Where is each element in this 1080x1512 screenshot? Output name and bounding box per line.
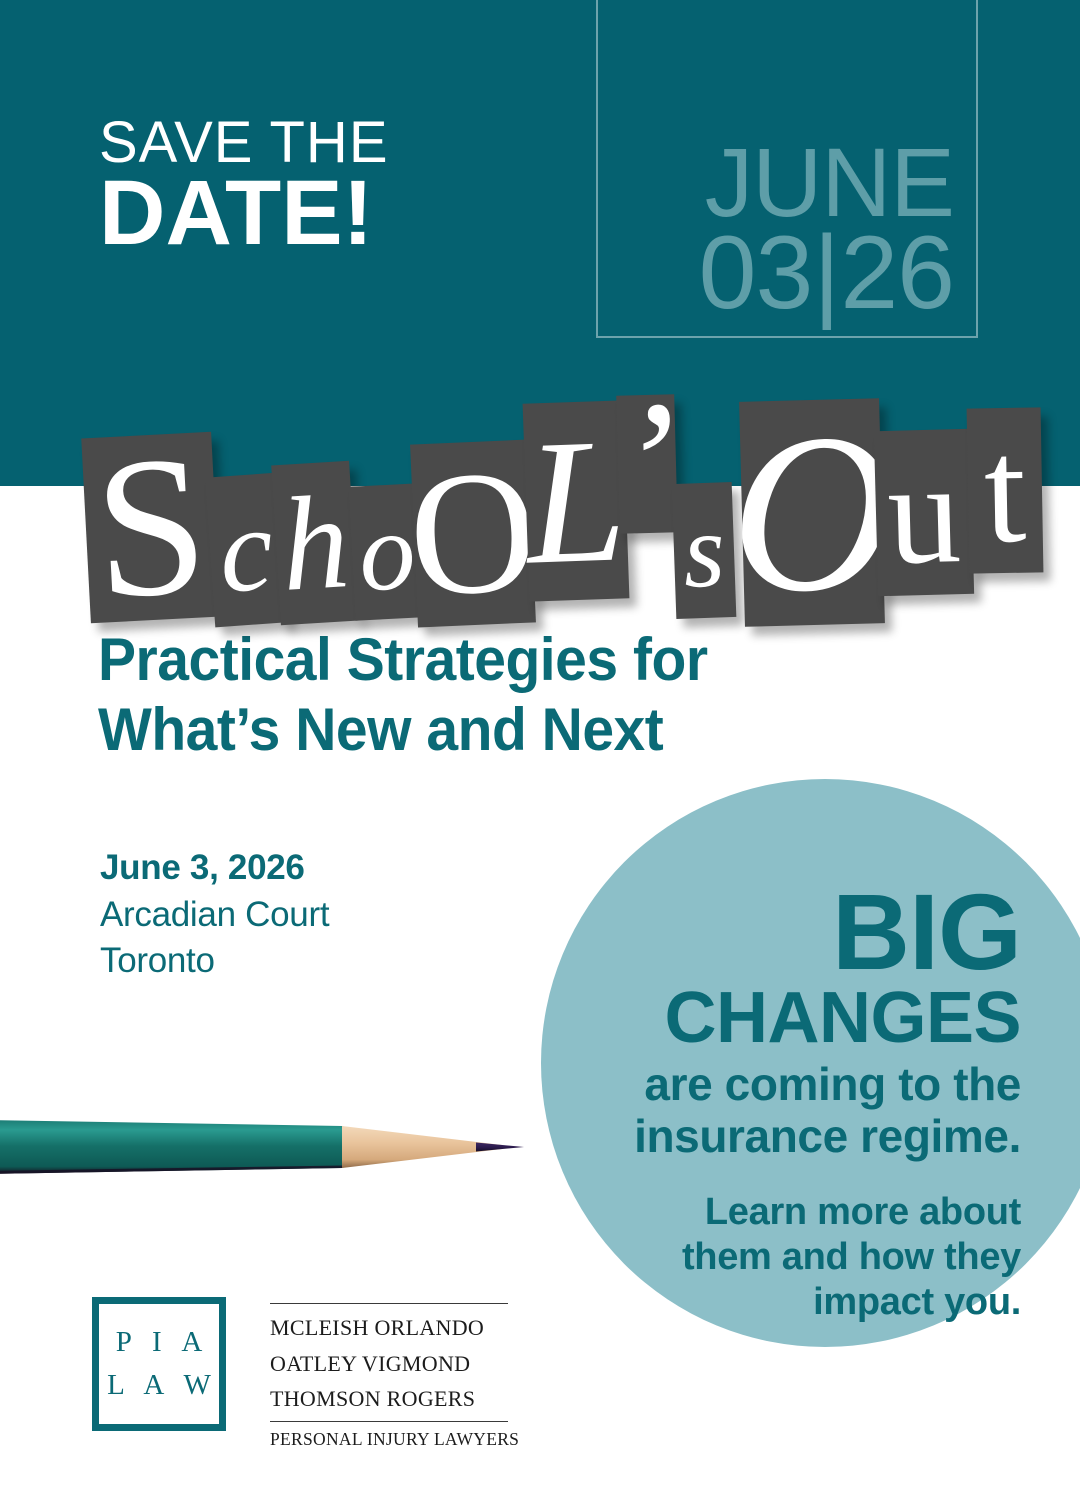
title-letter-tile: O [739,398,885,627]
title-letter-glyph: O [727,397,896,627]
date-box: JUNE 03|26 [596,0,978,338]
title-letter-glyph: c [215,488,277,611]
event-details: June 3, 2026 Arcadian Court Toronto [100,845,329,985]
title-letter-tile: t [967,407,1044,573]
title-letter-tile: S [81,432,221,624]
title-letter-glyph: L [523,410,628,591]
firm-name: THOMSON ROGERS [270,1381,508,1417]
schools-out-title: SchoOL’sOut [86,390,1006,620]
learn-more-text: Learn more about them and how they impac… [566,1190,1021,1324]
big-changes-text: BIG CHANGES are coming to the insurance … [566,880,1021,1325]
title-letter-glyph: s [682,497,727,604]
date-month: JUNE [699,141,954,224]
changes-line1: are coming to the [566,1059,1021,1111]
firm-tagline: PERSONAL INJURY LAWYERS [270,1422,508,1450]
event-date: June 3, 2026 [100,845,329,892]
poster-canvas: SAVE THE DATE! JUNE 03|26 SchoOL’sOut Pr… [0,0,1080,1512]
title-letter-glyph: O [406,443,541,624]
firm-names-list: MCLEISH ORLANDOOATLEY VIGMONDTHOMSON ROG… [270,1304,508,1421]
title-letter-tile: ’ [616,394,678,533]
pia-law-mark-line1: P I A [109,1321,210,1365]
title-letter-tile: s [672,482,737,619]
pia-law-logo: P I A L A W MCLEISH ORLANDOOATLEY VIGMON… [92,1297,508,1450]
pia-law-mark-line2: L A W [100,1364,218,1408]
subtitle-line2: What’s New and Next [98,695,708,765]
title-letter-glyph: h [277,474,352,612]
firm-name: MCLEISH ORLANDO [270,1310,508,1346]
save-the-date-line2: DATE! [99,171,389,256]
title-letter-tile: h [271,461,359,625]
event-city: Toronto [100,938,329,985]
title-letter-glyph: u [886,439,963,587]
big-word: BIG [566,880,1021,984]
changes-sentence: are coming to the insurance regime. [566,1059,1021,1162]
date-separator: | [812,215,840,331]
pia-law-mark: P I A L A W [92,1297,226,1431]
date-year: 26 [840,215,954,331]
subtitle: Practical Strategies for What’s New and … [98,625,708,764]
learn-line2: them and how they [566,1235,1021,1280]
title-letter-glyph: t [983,415,1027,566]
save-the-date-line1: SAVE THE [99,116,389,169]
pencil-illustration [0,1102,550,1190]
learn-line3: impact you. [566,1280,1021,1325]
title-letter-glyph: ’ [615,375,678,552]
title-letter-tile: u [874,429,974,596]
firm-names-block: MCLEISH ORLANDOOATLEY VIGMONDTHOMSON ROG… [270,1297,508,1450]
date-day: 03 [699,215,813,331]
date-daymonth-year: 03|26 [699,229,954,318]
save-the-date-heading: SAVE THE DATE! [99,116,389,256]
date-box-content: JUNE 03|26 [699,141,954,318]
firm-name: OATLEY VIGMOND [270,1346,508,1382]
title-letter-tile: O [410,440,536,628]
event-venue: Arcadian Court [100,892,329,939]
learn-line1: Learn more about [566,1190,1021,1235]
changes-line2: insurance regime. [566,1111,1021,1163]
title-letter-glyph: S [90,425,212,631]
changes-word: CHANGES [566,982,1021,1055]
title-letter-tile: L [523,400,630,601]
